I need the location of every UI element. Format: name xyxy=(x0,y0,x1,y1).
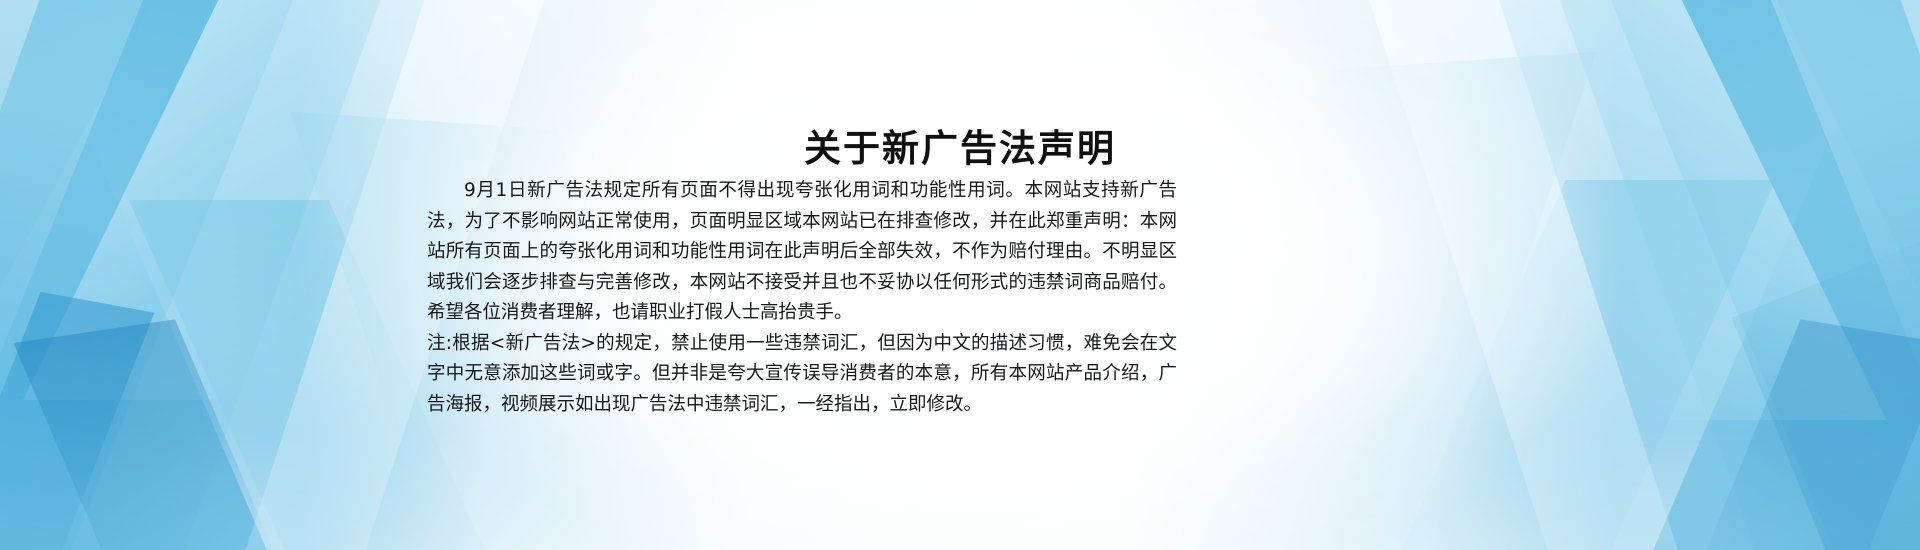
statement-paragraph-2: 注:根据<新广告法>的规定，禁止使用一些违禁词汇，但因为中文的描述习惯，难免会在… xyxy=(427,329,1177,421)
page-title: 关于新广告法声明 xyxy=(0,118,1920,172)
statement-paragraph-1: 9月1日新广告法规定所有页面不得出现夸张化用词和功能性用词。本网站支持新广告法，… xyxy=(427,176,1177,329)
statement-content: 关于新广告法声明 9月1日新广告法规定所有页面不得出现夸张化用词和功能性用词。本… xyxy=(0,0,1920,550)
banner-stage: 关于新广告法声明 9月1日新广告法规定所有页面不得出现夸张化用词和功能性用词。本… xyxy=(0,0,1920,550)
statement-body: 9月1日新广告法规定所有页面不得出现夸张化用词和功能性用词。本网站支持新广告法，… xyxy=(427,176,1177,420)
